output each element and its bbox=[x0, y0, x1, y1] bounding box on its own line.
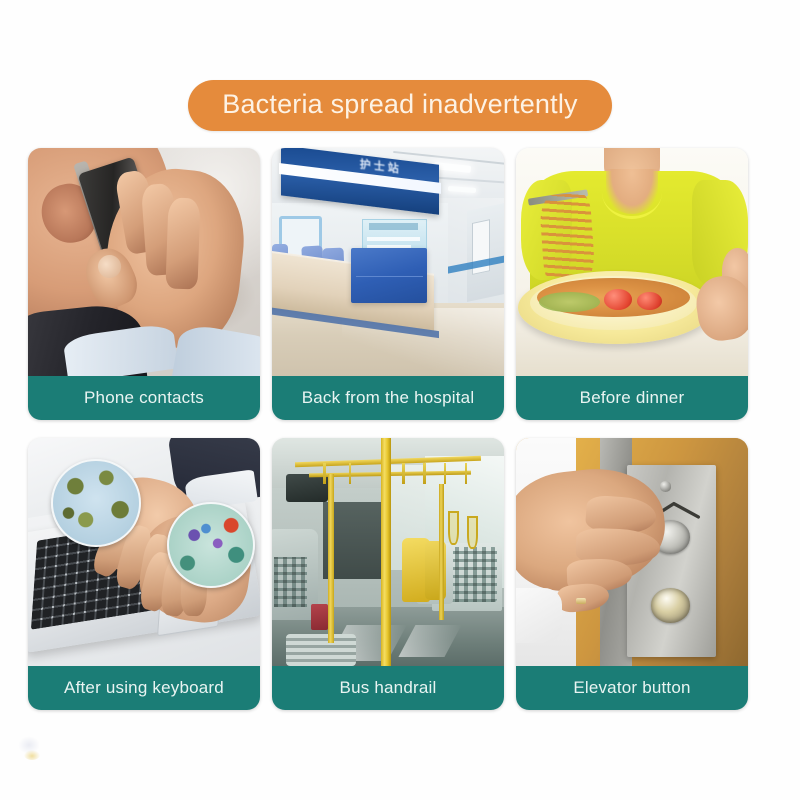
vertical-pole bbox=[439, 484, 444, 621]
card-caption: Back from the hospital bbox=[272, 376, 504, 420]
poster-root: Bacteria spread inadvertently bbox=[0, 0, 800, 800]
photo-phone-contacts bbox=[28, 148, 260, 376]
panel-screw bbox=[660, 481, 672, 491]
photo-before-dinner bbox=[516, 148, 748, 376]
info-board-line bbox=[367, 237, 420, 241]
seat-texture bbox=[274, 557, 306, 607]
photo-hospital: 护士站 bbox=[272, 148, 504, 376]
card-caption: Elevator button bbox=[516, 666, 748, 710]
rail-hanger bbox=[465, 463, 468, 484]
card-grid: Phone contacts 护 bbox=[28, 148, 772, 710]
info-board-title bbox=[369, 223, 418, 230]
bench bbox=[286, 634, 356, 666]
vertical-pole bbox=[328, 474, 334, 643]
card-after-using-keyboard[interactable]: After using keyboard bbox=[28, 438, 260, 710]
rail-hanger bbox=[423, 463, 426, 484]
blue-desk-line bbox=[356, 276, 423, 277]
hand-strap bbox=[467, 516, 478, 550]
vertical-pole-main bbox=[381, 438, 391, 666]
photo-bus bbox=[272, 438, 504, 666]
ring bbox=[576, 598, 585, 605]
page-title: Bacteria spread inadvertently bbox=[188, 80, 612, 131]
shirt-cuff bbox=[516, 588, 562, 643]
scan-artifact bbox=[24, 750, 40, 760]
trash-bin bbox=[311, 604, 327, 629]
rail-hanger bbox=[402, 463, 405, 484]
card-before-dinner[interactable]: Before dinner bbox=[516, 148, 748, 420]
banner-row: Bacteria spread inadvertently bbox=[0, 78, 800, 132]
card-elevator-button[interactable]: Elevator button bbox=[516, 438, 748, 710]
rail-hanger bbox=[444, 463, 447, 484]
overhead-box bbox=[286, 474, 328, 501]
bacteria-magnifier-icon bbox=[51, 459, 141, 547]
rail-hanger bbox=[323, 463, 326, 484]
hand-strap bbox=[448, 511, 459, 545]
rail-hanger bbox=[349, 463, 352, 484]
photo-elevator bbox=[516, 438, 748, 666]
card-caption: Phone contacts bbox=[28, 376, 260, 420]
card-caption: Bus handrail bbox=[272, 666, 504, 710]
bacteria-magnifier-icon bbox=[167, 502, 255, 588]
card-back-from-hospital[interactable]: 护士站 Back from the hospital bbox=[272, 148, 504, 420]
tomato bbox=[604, 289, 632, 310]
photo-keyboard bbox=[28, 438, 260, 666]
finger bbox=[166, 198, 202, 290]
card-bus-handrail[interactable]: Bus handrail bbox=[272, 438, 504, 710]
tomato bbox=[637, 292, 663, 310]
card-caption: After using keyboard bbox=[28, 666, 260, 710]
card-phone-contacts[interactable]: Phone contacts bbox=[28, 148, 260, 420]
elevator-down-button[interactable] bbox=[651, 588, 690, 622]
card-caption: Before dinner bbox=[516, 376, 748, 420]
greens bbox=[539, 292, 599, 313]
